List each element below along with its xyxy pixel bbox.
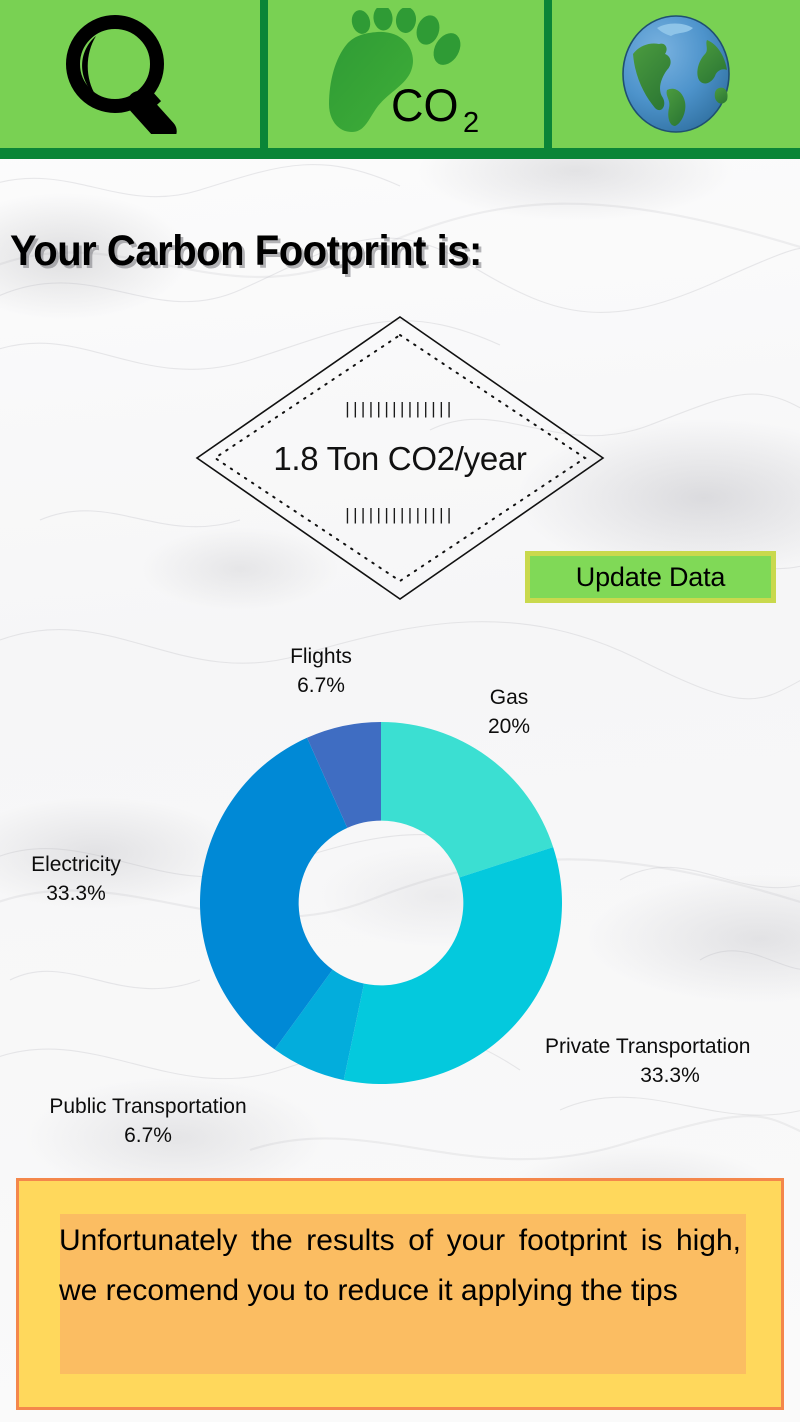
header-tab-co2-footprint[interactable]: CO 2 xyxy=(268,0,544,148)
chart-label-electricity: Electricity 33.3% xyxy=(14,851,138,909)
globe-icon xyxy=(615,12,737,136)
header-bottom-bar xyxy=(0,148,800,159)
footprint-value: 1.8 Ton CO2/year xyxy=(193,440,607,478)
header-tab-search[interactable] xyxy=(0,0,260,148)
badge-tick-row-bottom: |||||||||||||| xyxy=(193,505,607,525)
chart-label-electricity-pct: 33.3% xyxy=(14,880,138,909)
chart-label-flights-pct: 6.7% xyxy=(278,672,364,701)
chart-label-flights: Flights 6.7% xyxy=(278,643,364,701)
page-title: Your Carbon Footprint is: xyxy=(10,227,482,276)
co2-subscript: 2 xyxy=(463,107,479,139)
app-header: CO 2 xyxy=(0,0,800,148)
chart-label-gas-name: Gas xyxy=(490,686,529,709)
badge-tick-row-top: |||||||||||||| xyxy=(193,399,607,419)
header-tab-globe[interactable] xyxy=(552,0,800,148)
donut-slice-gas[interactable] xyxy=(381,722,553,878)
chart-label-public-transportation: Public Transportation 6.7% xyxy=(22,1093,274,1151)
co2-footprint-icon: CO 2 xyxy=(311,8,501,140)
chart-label-gas: Gas 20% xyxy=(466,684,552,742)
magnifier-icon xyxy=(52,14,208,134)
chart-label-public-transportation-name: Public Transportation xyxy=(49,1095,246,1118)
chart-label-flights-name: Flights xyxy=(290,645,352,668)
chart-label-electricity-name: Electricity xyxy=(31,853,121,876)
update-data-button[interactable]: Update Data xyxy=(525,551,776,603)
chart-label-private-transportation: Private Transportation 33.3% xyxy=(545,1033,800,1091)
co2-label: CO xyxy=(391,80,459,131)
carbon-breakdown-donut-chart: Flights 6.7% Gas 20% Electricity 33.3% P… xyxy=(0,630,800,1160)
update-data-button-label: Update Data xyxy=(576,562,725,593)
chart-label-private-transportation-pct: 33.3% xyxy=(545,1062,795,1091)
header-divider-2 xyxy=(544,0,552,148)
donut-slice-private-transportation[interactable] xyxy=(344,847,562,1084)
header-divider-1 xyxy=(260,0,268,148)
chart-label-private-transportation-name: Private Transportation xyxy=(545,1035,750,1058)
chart-label-gas-pct: 20% xyxy=(466,713,552,742)
chart-label-public-transportation-pct: 6.7% xyxy=(22,1122,274,1151)
result-message-text: Unfortunately the results of your footpr… xyxy=(59,1216,741,1316)
